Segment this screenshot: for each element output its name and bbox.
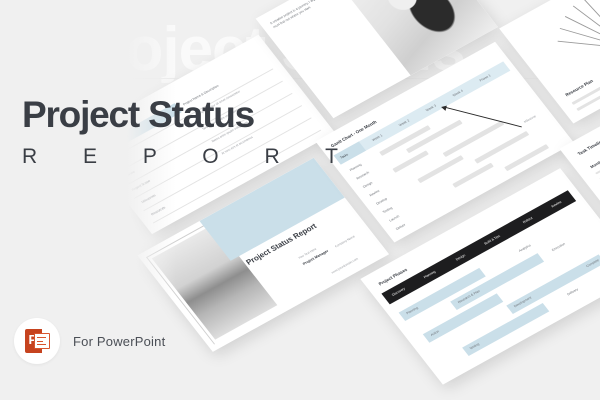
powerpoint-label: For PowerPoint [73, 334, 165, 349]
gantt-row-3: Review [369, 189, 381, 197]
gantt-annotation: Milestone [523, 114, 537, 123]
headline-block: Project Status R E P O R T [22, 96, 322, 169]
label-1: Overview [121, 170, 135, 180]
powerpoint-icon-circle [14, 318, 60, 364]
milestone-arrow-icon [440, 104, 446, 110]
gantt-row-2: Design [362, 181, 373, 189]
gantt-row-6: Launch [388, 214, 400, 222]
gantt-row-5: Testing [382, 206, 393, 214]
gantt-row-7: Deliver [395, 223, 406, 231]
slide-timeline-title: Task Timeline [577, 138, 600, 156]
quote-text: A creative project is a journey, I argue… [269, 0, 334, 30]
phase-label-5: Analytics [518, 243, 532, 252]
powerpoint-badge[interactable]: For PowerPoint [14, 318, 165, 364]
gantt-row-1: Research [356, 171, 371, 181]
gantt-row-4: Develop [375, 197, 388, 206]
cover-role-meta: Company Name [334, 235, 356, 249]
label-4: Resources [150, 206, 166, 217]
cover-url: www.yourdomain.com [330, 257, 359, 275]
promo-banner: Project Status Project Details Your Text… [0, 0, 600, 400]
page-subtitle: R E P O R T [22, 145, 322, 169]
page-title: Project Status [22, 96, 322, 135]
timeline-month-label: Month 01 [589, 157, 600, 169]
label-3: Milestones [141, 193, 157, 204]
fan-lines-chart [521, 0, 600, 85]
powerpoint-icon [25, 329, 50, 353]
phase-label-7: Delivery [566, 287, 579, 296]
phase-label-6: Execution [551, 242, 566, 252]
